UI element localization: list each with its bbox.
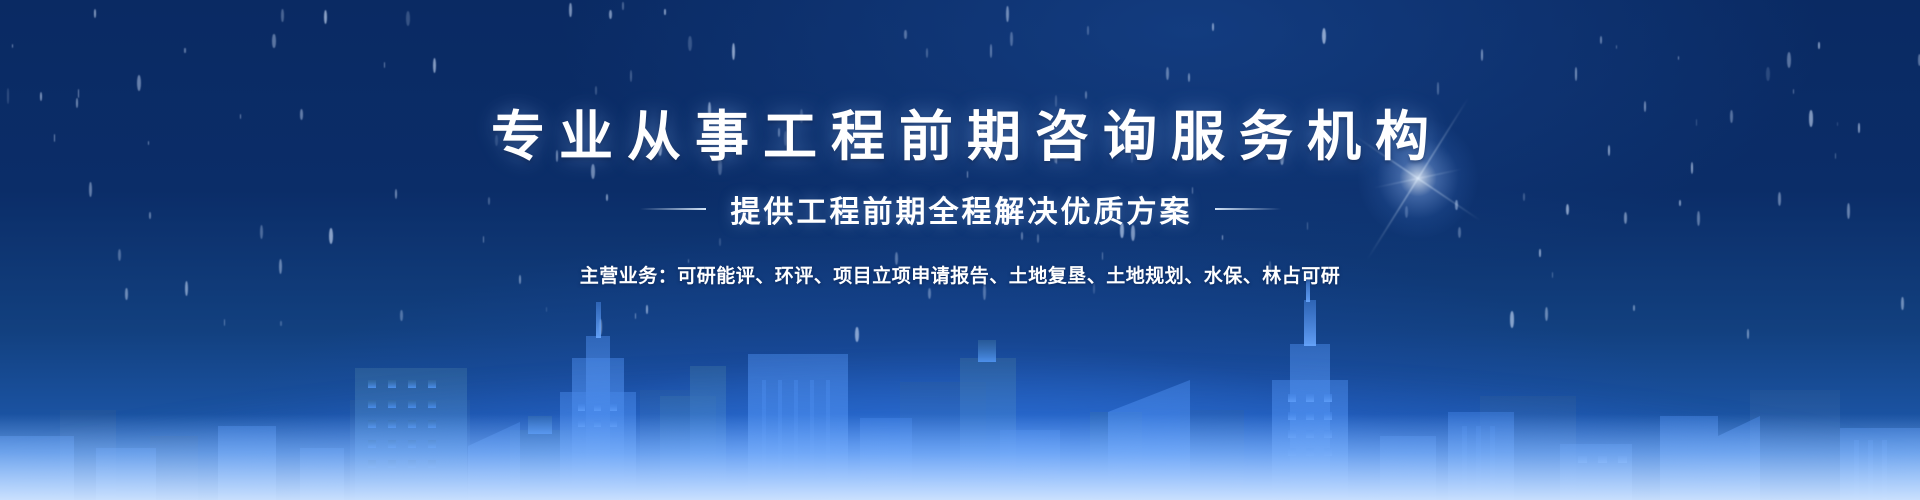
star-speck <box>546 307 547 312</box>
star-speck <box>400 310 403 322</box>
star-speck <box>1510 311 1515 328</box>
star-speck <box>1901 297 1904 310</box>
horizon-glow <box>0 320 1920 500</box>
star-speck <box>928 288 931 299</box>
star-speck <box>599 319 602 335</box>
banner-subtitle: 提供工程前期全程解决优质方案 <box>728 187 1193 231</box>
star-speck <box>1633 305 1635 311</box>
hero-banner: 专业从事工程前期咨询服务机构 提供工程前期全程解决优质方案 主营业务：可研能评、… <box>0 0 1920 500</box>
star-speck <box>635 313 636 319</box>
star-speck <box>1545 307 1548 321</box>
right-rule-divider <box>1215 208 1281 210</box>
star-speck <box>224 319 225 326</box>
banner-subtitle-row: 提供工程前期全程解决优质方案 <box>0 187 1920 231</box>
star-speck <box>1747 329 1749 339</box>
left-rule-divider <box>640 208 706 210</box>
banner-headline: 专业从事工程前期咨询服务机构 <box>0 108 1920 165</box>
banner-content: 专业从事工程前期咨询服务机构 提供工程前期全程解决优质方案 主营业务：可研能评、… <box>0 0 1920 288</box>
business-scope-text: 主营业务：可研能评、环评、项目立项申请报告、土地复垦、土地规划、水保、林占可研 <box>0 261 1920 288</box>
star-speck <box>125 288 128 300</box>
star-speck <box>646 305 648 314</box>
ground-fade <box>0 414 1920 500</box>
star-speck <box>855 327 859 343</box>
star-speck <box>280 321 281 326</box>
